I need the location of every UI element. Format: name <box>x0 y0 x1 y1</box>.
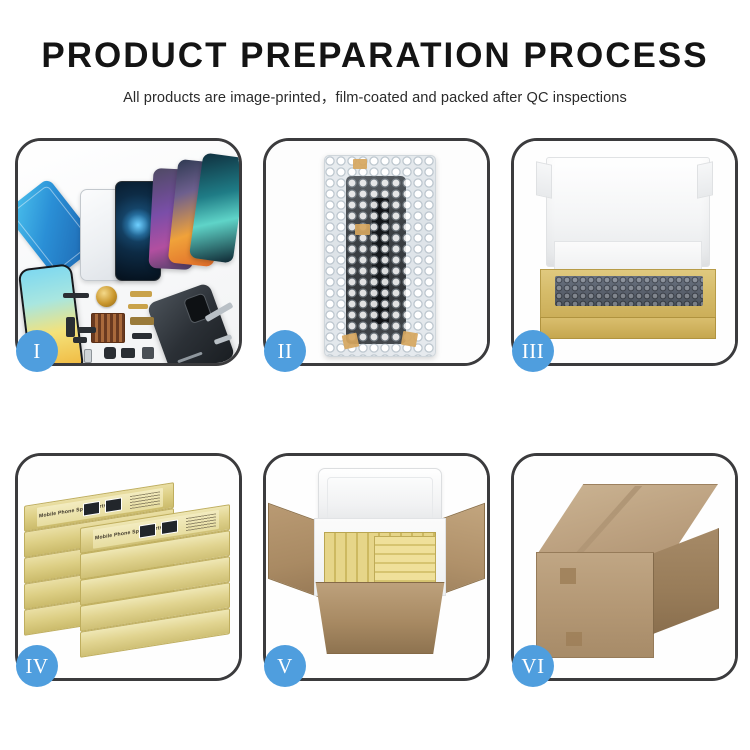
label-screen-image-icon <box>161 519 178 535</box>
panel-1-image <box>18 141 239 363</box>
page-subtitle: All products are image-printed，film-coat… <box>0 86 750 107</box>
carton-body-icon <box>310 582 450 654</box>
flex-cable-part-icon <box>63 293 89 298</box>
panel-badge-6: VI <box>512 645 554 687</box>
label-screen-image-icon <box>139 523 156 539</box>
process-panel-2[interactable]: II <box>263 138 490 366</box>
process-panel-grid: I II <box>15 138 738 681</box>
bubble-wrap-bag-icon <box>324 155 436 357</box>
label-screen-image-icon <box>105 497 122 513</box>
gold-connector-part-icon <box>130 291 152 297</box>
panel-badge-1: I <box>16 330 58 372</box>
page-title: PRODUCT PREPARATION PROCESS <box>0 38 750 73</box>
process-panel-5[interactable]: V <box>263 453 490 681</box>
label-spec-lines <box>186 513 216 531</box>
speaker-part-icon <box>121 348 135 358</box>
tape-piece-icon <box>353 159 367 169</box>
vibration-motor-part-icon <box>142 347 154 359</box>
tape-piece-icon <box>401 331 418 347</box>
open-kraft-box-with-foam-scene <box>514 141 735 363</box>
carton-with-foam-and-boxes-scene <box>266 456 487 678</box>
panel-badge-2: II <box>264 330 306 372</box>
chip-board-part-icon <box>91 313 125 343</box>
copper-coil-part-icon <box>96 286 117 307</box>
lcd-in-bubble-wrap-bag-scene <box>266 141 487 363</box>
small-bracket-part-icon <box>66 317 75 337</box>
sim-tray-part-icon <box>84 349 92 363</box>
process-panel-3[interactable]: III <box>511 138 738 366</box>
box-lid-left-flap-icon <box>536 161 552 198</box>
panel-2-image <box>266 141 487 363</box>
phone-screens-and-spare-parts-scene <box>18 141 239 363</box>
bubble-texture-overlay <box>325 156 435 356</box>
label-spec-lines <box>130 491 160 509</box>
connector-strip-part-icon <box>132 333 152 339</box>
camera-module-part-icon <box>104 347 116 359</box>
panel-5-image <box>266 456 487 678</box>
kraft-box-front-panel-icon <box>540 317 716 339</box>
yellow-boxes-row-icon <box>374 536 436 584</box>
panel-4-image: Mobile Phone Spare Parts Mobile Phone Sp… <box>18 456 239 678</box>
ribbon-cable-part-icon <box>78 327 96 333</box>
panel-badge-5: V <box>264 645 306 687</box>
sealed-shipping-carton-scene <box>514 456 735 678</box>
panel-badge-4: IV <box>16 645 58 687</box>
process-panel-4[interactable]: Mobile Phone Spare Parts Mobile Phone Sp… <box>15 453 242 681</box>
tape-piece-icon <box>355 224 370 235</box>
header: PRODUCT PREPARATION PROCESS All products… <box>0 0 750 107</box>
label-screen-image-icon <box>83 501 100 517</box>
process-panel-1[interactable]: I <box>15 138 242 366</box>
packing-tape-icon <box>566 632 582 646</box>
box-lid-right-flap-icon <box>697 161 713 198</box>
box-stack: Mobile Phone Spare Parts Mobile Phone Sp… <box>24 480 236 670</box>
process-panel-6[interactable]: VI <box>511 453 738 681</box>
bubble-wrapped-contents-icon <box>555 276 703 306</box>
copper-strip-part-icon <box>130 317 154 325</box>
antenna-part-icon <box>73 337 87 343</box>
gold-flex-part-icon <box>128 304 148 309</box>
packing-tape-icon <box>560 568 576 584</box>
panel-6-image <box>514 456 735 678</box>
panel-3-image <box>514 141 735 363</box>
stacked-labelled-boxes-scene: Mobile Phone Spare Parts Mobile Phone Sp… <box>18 456 239 678</box>
carton-front-face-icon <box>536 552 654 658</box>
panel-badge-3: III <box>512 330 554 372</box>
